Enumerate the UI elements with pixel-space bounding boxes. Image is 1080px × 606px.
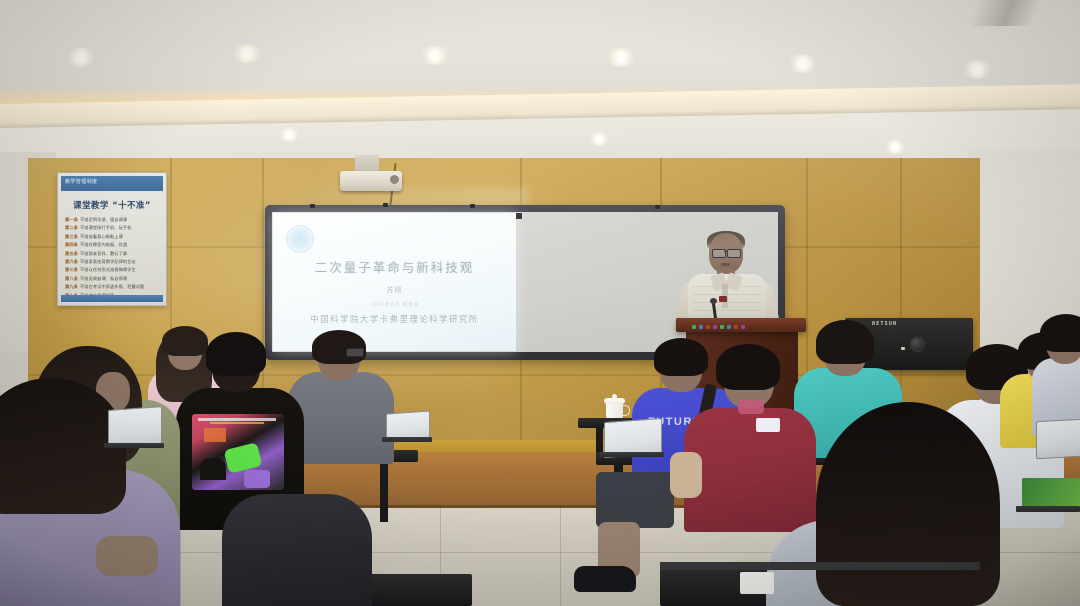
laptop-base-1: [104, 443, 164, 448]
poster-rule-number: 第九条: [65, 284, 80, 290]
downlight-lower-2: [588, 132, 610, 146]
poster-rule-item: 第二条不准课堂接打手机、玩手机: [65, 225, 161, 231]
ceiling-crack: [930, 0, 1080, 26]
tile-line-v4: [560, 508, 561, 606]
poster-rule-number: 第三条: [65, 234, 80, 240]
microphone-icon: [710, 298, 717, 304]
poster-rule-text: 不准在教室内吸烟、饮酒: [80, 242, 127, 248]
lectern-button-2[interactable]: [699, 325, 703, 329]
projector-lens: [390, 175, 399, 184]
teacup-knob: [612, 394, 617, 399]
speaker-glasses-bridge: [724, 251, 728, 252]
desk-leg-3: [380, 460, 388, 522]
poster-rule-text: 不准发表违背教学纪律的言论: [80, 259, 136, 265]
board-clip-2: [383, 203, 388, 207]
poster-rule-item: 第七条不准以任何形式歧视侮辱学生: [65, 267, 161, 273]
rack-led-indicator: [901, 347, 905, 350]
poster-rule-list: 第一条不准迟到早退、擅自调课第二条不准课堂接打手机、玩手机第三条不准穿着背心拖鞋…: [65, 217, 161, 301]
laptop-screen-1[interactable]: [108, 406, 162, 448]
downlight-a: [66, 48, 96, 67]
laptop-base-5: [1016, 506, 1080, 512]
lectern-button-8[interactable]: [741, 325, 745, 329]
board-clip-4: [655, 205, 660, 209]
poster-rule-number: 第七条: [65, 267, 80, 273]
lectern-button-5[interactable]: [720, 325, 724, 329]
lectern-button-7[interactable]: [734, 325, 738, 329]
lectern-button-1[interactable]: [692, 325, 696, 329]
poster-rule-number: 第八条: [65, 276, 80, 282]
speaker-mouth: [721, 263, 730, 266]
lectern-button-6[interactable]: [727, 325, 731, 329]
lectern-button-3[interactable]: [706, 325, 710, 329]
classroom-rules-poster: 教学管理制度 课堂教学 “十不准” 第一条不准迟到早退、擅自调课第二条不准课堂接…: [57, 172, 167, 306]
poster-rule-number: 第六条: [65, 259, 80, 265]
rack-brand-label: NETSUN: [872, 321, 897, 327]
lectern-control-panel[interactable]: [692, 325, 745, 329]
attendee-hand: [96, 536, 158, 576]
poster-rule-item: 第八条不准无故缺课、私自停课: [65, 276, 161, 282]
attendee-bag: [670, 452, 702, 498]
poster-rule-number: 第五条: [65, 251, 80, 257]
shirt-logo-patch: [756, 418, 780, 432]
laptop-screen-5[interactable]: [1022, 478, 1080, 508]
poster-rule-number: 第二条: [65, 225, 80, 231]
lecture-hall-photo: 二次量子革命与新科技观 苏刚 2024年6月 报告会 中国科学院大学卡弗里理论科…: [0, 0, 1080, 606]
poster-rule-number: 第一条: [65, 217, 80, 223]
downlight-f: [962, 60, 992, 79]
poster-title: 课堂教学 “十不准”: [58, 199, 166, 211]
rack-knob-2[interactable]: [910, 337, 925, 352]
board-divider-clip: [516, 213, 522, 219]
poster-rule-text: 不准穿着背心拖鞋上课: [80, 234, 123, 240]
jacket-graphic-print: [192, 414, 284, 490]
poster-rule-item: 第一条不准迟到早退、擅自调课: [65, 217, 161, 223]
poster-rule-text: 不准在考试中弄虚作假、泄露试题: [80, 284, 144, 290]
poster-header-text: 教学管理制度: [65, 178, 97, 185]
poster-rule-text: 不准照本宣科、敷衍了事: [80, 251, 127, 257]
poster-rule-text: 不准课堂接打手机、玩手机: [80, 225, 131, 231]
poster-rule-text: 不准以任何形式歧视侮辱学生: [80, 267, 136, 273]
downlight-lower-3: [884, 140, 906, 154]
attendee-shoe: [574, 566, 636, 592]
poster-rule-item: 第四条不准在教室内吸烟、饮酒: [65, 242, 161, 248]
speaker-glasses-right: [727, 249, 741, 258]
poster-rule-text: 不准迟到早退、擅自调课: [80, 217, 127, 223]
poster-rule-number: 第四条: [65, 242, 80, 248]
attendee-shorts: [596, 472, 674, 528]
downlight-d: [606, 48, 636, 67]
paper-sheet: [740, 572, 774, 594]
poster-rule-item: 第六条不准发表违背教学纪律的言论: [65, 259, 161, 265]
poster-rule-item: 第九条不准在考试中弄虚作假、泄露试题: [65, 284, 161, 290]
lectern-button-4[interactable]: [713, 325, 717, 329]
poster-footer-bar: [61, 295, 163, 302]
downlight-lower-1: [278, 128, 300, 142]
downlight-e: [788, 54, 818, 73]
poster-rule-item: 第五条不准照本宣科、敷衍了事: [65, 251, 161, 257]
attendee-glasses: [346, 348, 364, 357]
speaker-badge: [719, 296, 727, 302]
downlight-c: [420, 46, 450, 65]
laptop-screen-4[interactable]: [1036, 419, 1080, 459]
desk-edge-front-right: [660, 562, 980, 570]
board-clip-1: [310, 204, 315, 208]
downlight-b: [232, 44, 262, 63]
poster-rule-item: 第三条不准穿着背心拖鞋上课: [65, 234, 161, 240]
board-clip-3: [470, 204, 475, 208]
poster-rule-text: 不准无故缺课、私自停课: [80, 276, 127, 282]
laptop-base-3: [600, 452, 664, 457]
lanyard: [738, 400, 764, 414]
laptop-base-2: [382, 437, 432, 442]
